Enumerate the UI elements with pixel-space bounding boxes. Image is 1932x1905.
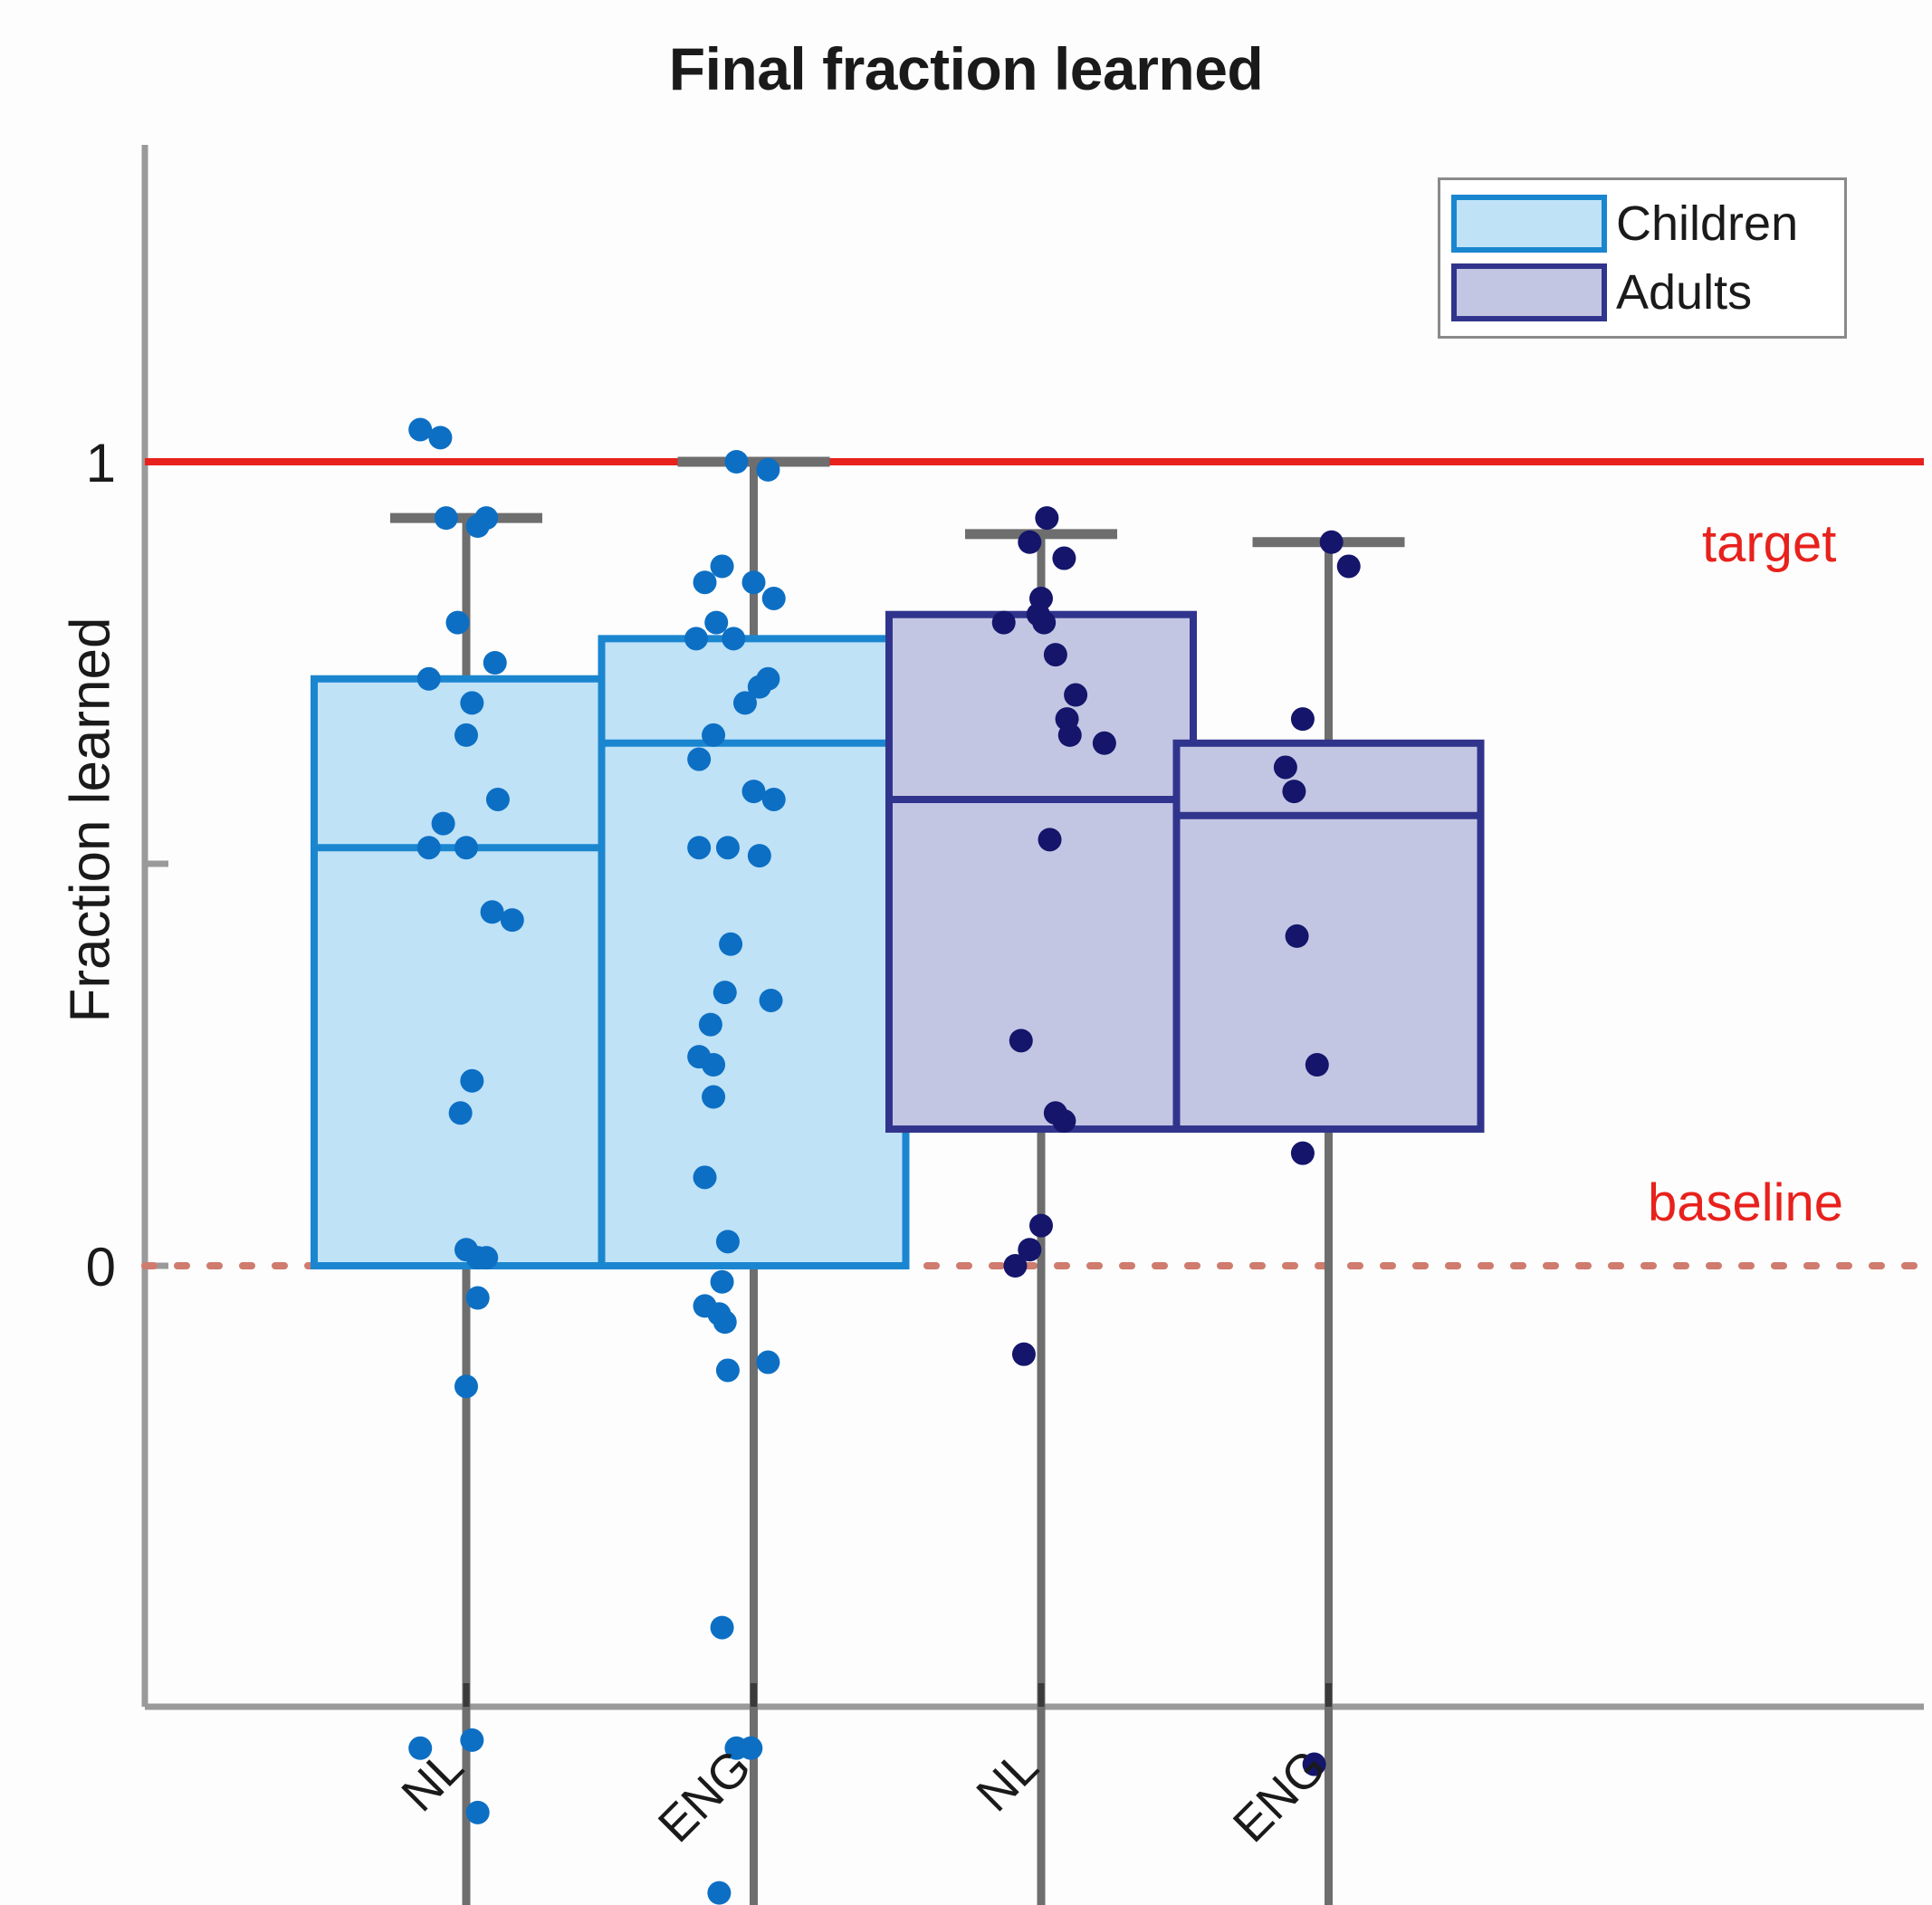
scatter-point	[1012, 1343, 1036, 1366]
scatter-point	[1058, 723, 1082, 747]
scatter-point	[702, 723, 725, 747]
scatter-point	[713, 981, 737, 1004]
scatter-point	[1035, 506, 1058, 530]
scatter-point	[762, 587, 786, 610]
scatter-point	[466, 1801, 490, 1824]
scatter-point	[454, 836, 478, 859]
scatter-point	[481, 900, 504, 924]
scatter-point	[702, 1053, 725, 1077]
scatter-point	[1337, 554, 1361, 578]
scatter-point	[1291, 707, 1315, 731]
scatter-group-adults-eng	[1274, 531, 1361, 1905]
scatter-point	[693, 1165, 717, 1189]
scatter-point	[417, 836, 441, 859]
scatter-point	[460, 691, 483, 714]
scatter-point	[713, 1310, 737, 1334]
scatter-point	[1306, 1053, 1329, 1077]
scatter-point	[474, 506, 498, 530]
scatter-point	[1009, 1029, 1033, 1052]
scatter-point	[722, 627, 745, 650]
scatter-point	[739, 1737, 762, 1760]
scatter-point	[1052, 1109, 1076, 1133]
scatter-point	[756, 1351, 779, 1374]
scatter-point	[748, 844, 771, 867]
scatter-point	[501, 908, 524, 932]
legend-swatch-children	[1451, 195, 1607, 253]
scatter-point	[449, 1101, 473, 1125]
scatter-point	[1274, 755, 1297, 779]
scatter-point	[445, 611, 469, 635]
scatter-point	[711, 1616, 734, 1640]
scatter-point	[1018, 531, 1041, 554]
box-body	[314, 679, 618, 1266]
scatter-point	[432, 812, 455, 836]
scatter-point	[435, 506, 458, 530]
scatter-point	[474, 1246, 498, 1269]
scatter-point	[742, 570, 766, 594]
box-body	[602, 638, 906, 1266]
scatter-point	[702, 1086, 725, 1109]
scatter-point	[454, 723, 478, 747]
scatter-point	[760, 989, 783, 1012]
scatter-point	[992, 611, 1016, 635]
legend-label-children: Children	[1616, 199, 1798, 248]
scatter-point	[486, 788, 510, 811]
scatter-point	[716, 836, 740, 859]
scatter-point	[687, 748, 711, 771]
scatter-point	[454, 1374, 478, 1398]
baseline-annotation: baseline	[1648, 1173, 1843, 1232]
scatter-point	[716, 1358, 740, 1382]
scatter-point	[1291, 1142, 1315, 1165]
chart-canvas: Final fraction learned Fraction learned …	[0, 0, 1932, 1905]
scatter-point	[756, 458, 779, 482]
x-tick-label-2: NL	[966, 1739, 1048, 1822]
scatter-point	[711, 554, 734, 578]
y-tick-label: 1	[86, 433, 116, 493]
scatter-point	[704, 611, 728, 635]
legend-label-adults: Adults	[1616, 268, 1752, 317]
box-body	[1177, 743, 1481, 1129]
scatter-point	[417, 667, 441, 691]
scatter-point	[1064, 684, 1087, 707]
y-tick-label: 0	[86, 1237, 116, 1297]
scatter-point	[408, 417, 432, 441]
scatter-point	[719, 933, 742, 956]
scatter-point	[1044, 643, 1067, 666]
scatter-point	[742, 780, 766, 803]
box-body	[889, 615, 1193, 1129]
scatter-point	[687, 836, 711, 859]
scatter-point	[1032, 611, 1056, 635]
scatter-point	[693, 570, 717, 594]
legend-item-adults[interactable]: Adults	[1451, 261, 1833, 324]
scatter-point	[724, 450, 748, 474]
scatter-point	[1320, 531, 1344, 554]
scatter-point	[1029, 1214, 1053, 1238]
scatter-point	[1093, 732, 1116, 755]
legend-swatch-adults	[1451, 263, 1607, 321]
legend-item-children[interactable]: Children	[1451, 192, 1833, 255]
chart-legend[interactable]: Children Adults	[1438, 177, 1847, 339]
target-annotation: target	[1702, 514, 1836, 573]
scatter-point	[1286, 924, 1309, 948]
scatter-point	[466, 1287, 490, 1310]
scatter-point	[1003, 1254, 1027, 1278]
scatter-point	[428, 426, 452, 449]
scatter-point	[1052, 547, 1076, 570]
scatter-point	[711, 1270, 734, 1294]
scatter-point	[684, 627, 708, 650]
x-tick-label-0: NL	[391, 1739, 473, 1822]
scatter-point	[762, 788, 786, 811]
scatter-point	[1038, 828, 1062, 851]
scatter-point	[460, 1069, 483, 1093]
scatter-point	[707, 1881, 731, 1905]
scatter-point	[483, 651, 507, 675]
scatter-point	[699, 1013, 722, 1037]
scatter-point	[460, 1728, 483, 1752]
scatter-point	[716, 1230, 740, 1253]
scatter-point	[1282, 780, 1306, 803]
scatter-point	[733, 691, 757, 714]
